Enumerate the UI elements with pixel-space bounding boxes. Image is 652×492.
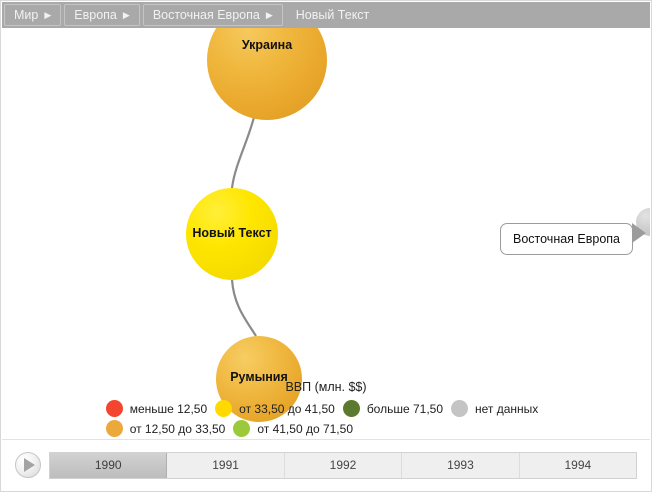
bubble-label: Новый Текст	[192, 226, 271, 240]
year-label: 1993	[447, 458, 474, 472]
legend-item-no-data[interactable]: нет данных	[451, 400, 538, 417]
legend-item-label: нет данных	[475, 402, 538, 416]
legend: ВВП (млн. $$) меньше 12,50 от 33,50 до 4…	[2, 380, 650, 437]
timeline-bar: 1990 1991 1992 1993 1994	[2, 439, 650, 490]
legend-item-label: от 33,50 до 41,50	[239, 402, 335, 416]
bubble-node-newtext[interactable]: Новый Текст	[186, 188, 278, 280]
play-triangle-icon	[24, 458, 35, 472]
legend-row: меньше 12,50 от 33,50 до 41,50 больше 71…	[106, 400, 547, 417]
legend-swatch-icon	[106, 400, 123, 417]
legend-item-less-than-12-50[interactable]: меньше 12,50	[106, 400, 207, 417]
bubble-label: Украина	[242, 38, 292, 52]
breadcrumb-label: Мир	[14, 9, 38, 22]
tooltip-pointer-icon	[633, 224, 646, 242]
bubble-node-ukraine[interactable]: Украина	[207, 28, 327, 120]
chevron-right-icon: ▶	[44, 11, 51, 20]
year-slider-track[interactable]: 1990 1991 1992 1993 1994	[49, 452, 637, 479]
tooltip-label: Восточная Европа	[513, 232, 620, 246]
legend-item-label: от 41,50 до 71,50	[257, 422, 353, 436]
year-label: 1991	[212, 458, 239, 472]
legend-swatch-icon	[106, 420, 123, 437]
year-cell-1991[interactable]: 1991	[167, 453, 284, 478]
legend-swatch-icon	[233, 420, 250, 437]
legend-swatch-icon	[343, 400, 360, 417]
chevron-right-icon: ▶	[266, 11, 273, 20]
legend-item-more-than-71-50[interactable]: больше 71,50	[343, 400, 443, 417]
legend-item-41-50-to-71-50[interactable]: от 41,50 до 71,50	[233, 420, 353, 437]
bubble-graph-canvas[interactable]: Украина Новый Текст Румыния Восточная Ев…	[2, 28, 650, 440]
breadcrumb-label: Новый Текст	[296, 9, 370, 22]
legend-swatch-icon	[215, 400, 232, 417]
year-label: 1994	[564, 458, 591, 472]
breadcrumb: Мир ▶ Европа ▶ Восточная Европа ▶ Новый …	[2, 2, 650, 28]
legend-item-12-50-to-33-50[interactable]: от 12,50 до 33,50	[106, 420, 226, 437]
legend-item-label: больше 71,50	[367, 402, 443, 416]
breadcrumb-item-world[interactable]: Мир ▶	[4, 4, 61, 26]
year-label: 1990	[95, 458, 122, 472]
legend-item-label: меньше 12,50	[130, 402, 207, 416]
legend-title: ВВП (млн. $$)	[285, 380, 366, 394]
breadcrumb-label: Восточная Европа	[153, 9, 260, 22]
legend-item-33-50-to-41-50[interactable]: от 33,50 до 41,50	[215, 400, 335, 417]
year-cell-1993[interactable]: 1993	[402, 453, 519, 478]
legend-swatch-icon	[451, 400, 468, 417]
breadcrumb-item-europe[interactable]: Европа ▶	[64, 4, 140, 26]
tooltip-callout[interactable]: Восточная Европа	[500, 223, 633, 255]
year-cell-1994[interactable]: 1994	[520, 453, 636, 478]
year-cell-1990[interactable]: 1990	[50, 453, 167, 478]
legend-rows: меньше 12,50 от 33,50 до 41,50 больше 71…	[106, 400, 547, 437]
edge-newtext-romania	[232, 280, 256, 336]
breadcrumb-label: Европа	[74, 9, 117, 22]
app-window: Мир ▶ Европа ▶ Восточная Европа ▶ Новый …	[0, 0, 652, 492]
year-label: 1992	[330, 458, 357, 472]
play-icon[interactable]	[15, 452, 41, 478]
chevron-right-icon: ▶	[123, 11, 130, 20]
breadcrumb-item-eastern-europe[interactable]: Восточная Европа ▶	[143, 4, 283, 26]
legend-row: от 12,50 до 33,50 от 41,50 до 71,50	[106, 420, 547, 437]
year-cell-1992[interactable]: 1992	[285, 453, 402, 478]
legend-item-label: от 12,50 до 33,50	[130, 422, 226, 436]
breadcrumb-item-current: Новый Текст	[286, 4, 379, 26]
